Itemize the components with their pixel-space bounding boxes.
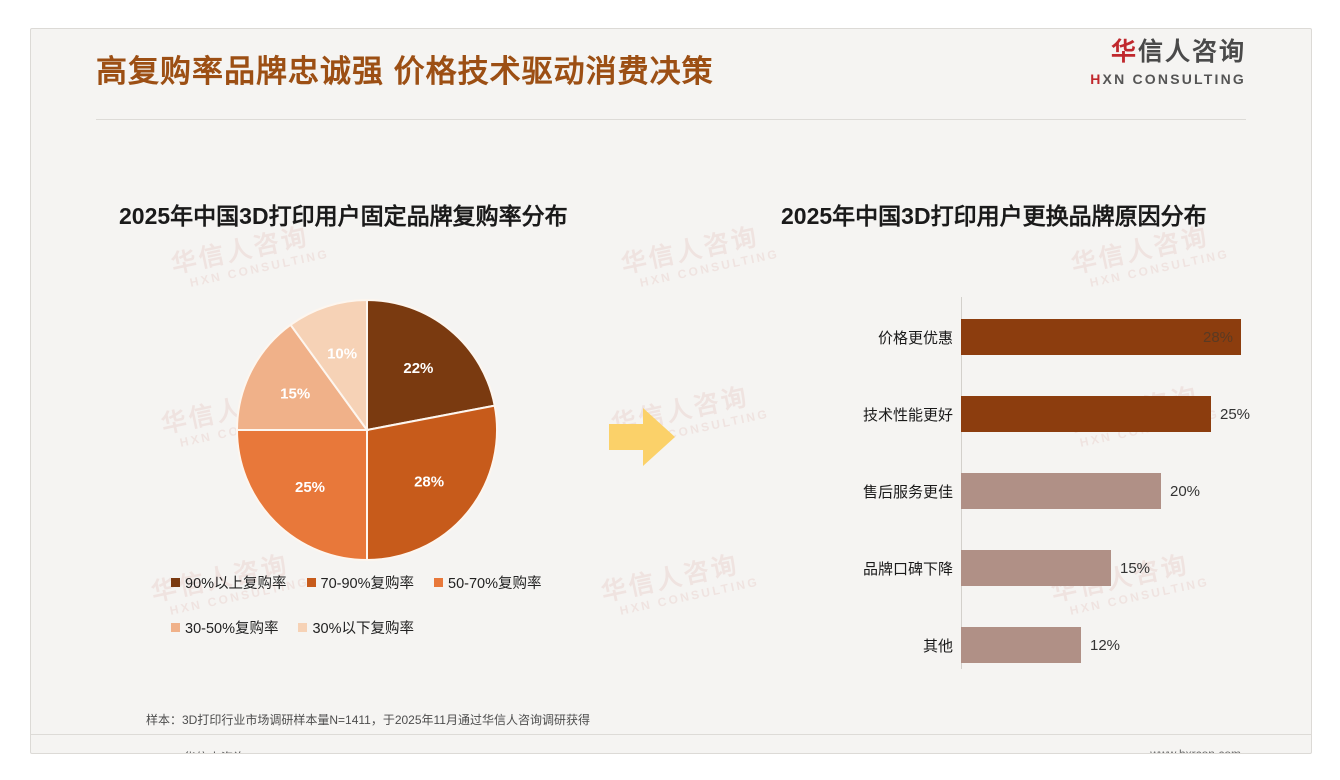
logo-chinese: 华信人咨询 xyxy=(1090,40,1246,65)
bar-fill[interactable] xyxy=(961,396,1211,432)
bar-row: 技术性能更好25% xyxy=(831,396,1281,432)
pie-slice-label: 10% xyxy=(327,345,357,362)
legend-swatch-icon xyxy=(434,578,443,587)
pie-chart: 22%28%25%15%10% xyxy=(236,299,498,561)
watermark-cn: 华信人咨询 xyxy=(618,213,778,281)
right-arrow-icon xyxy=(609,406,677,468)
website-link[interactable]: www.hxrcon.com xyxy=(1150,747,1241,754)
legend-label: 70-90%复购率 xyxy=(321,572,414,593)
slide-header: 高复购率品牌忠诚强 价格技术驱动消费决策 华信人咨询 HXN CONSULTIN… xyxy=(31,29,1311,119)
slide-root: 华信人咨询HXN CONSULTING 华信人咨询HXN CONSULTING … xyxy=(0,0,1340,780)
legend-row: 90%以上复购率 70-90%复购率 50-70%复购率 xyxy=(171,572,601,593)
bar-chart-title: 2025年中国3D打印用户更换品牌原因分布 xyxy=(781,197,1207,231)
bar-row: 其他12% xyxy=(831,627,1281,663)
bar-value-label: 25% xyxy=(1220,406,1250,423)
legend-item[interactable]: 70-90%复购率 xyxy=(307,572,414,593)
legend-label: 90%以上复购率 xyxy=(185,572,287,593)
title-divider xyxy=(96,119,1246,120)
logo-cn-rest: 信人咨询 xyxy=(1138,38,1246,66)
bar-row: 售后服务更佳20% xyxy=(831,473,1281,509)
slide-card: 华信人咨询HXN CONSULTING 华信人咨询HXN CONSULTING … xyxy=(30,28,1312,754)
watermark-en: HXN CONSULTING xyxy=(638,247,780,290)
pie-slice-label: 25% xyxy=(295,479,325,496)
legend-item[interactable]: 30%以下复购率 xyxy=(298,617,414,638)
legend-item[interactable]: 30-50%复购率 xyxy=(171,617,278,638)
legend-item[interactable]: 50-70%复购率 xyxy=(434,572,541,593)
watermark-en: HXN CONSULTING xyxy=(1088,247,1230,290)
brand-logo: 华信人咨询 HXN CONSULTING xyxy=(1090,40,1246,86)
bar-fill[interactable] xyxy=(961,627,1081,663)
watermark-cn: 华信人咨询 xyxy=(598,541,758,609)
pie-slice-label: 28% xyxy=(414,473,444,490)
pie-slice-label: 15% xyxy=(280,385,310,402)
bar-fill[interactable] xyxy=(961,473,1161,509)
legend-label: 30%以下复购率 xyxy=(312,617,414,638)
pie-slice-label: 22% xyxy=(403,360,433,377)
bar-category-label: 价格更优惠 xyxy=(831,327,961,348)
legend-swatch-icon xyxy=(307,578,316,587)
logo-cn-accent: 华 xyxy=(1111,38,1138,66)
logo-en-accent: H xyxy=(1090,71,1102,87)
legend-item[interactable]: 90%以上复购率 xyxy=(171,572,287,593)
bar-track: 15% xyxy=(961,550,1281,586)
logo-english: HXN CONSULTING xyxy=(1090,72,1246,86)
bar-value-label: 28% xyxy=(1203,329,1278,346)
bar-fill[interactable] xyxy=(961,319,1241,355)
bar-row: 品牌口碑下降15% xyxy=(831,550,1281,586)
watermark-en: HXN CONSULTING xyxy=(618,575,760,618)
legend-swatch-icon xyxy=(298,623,307,632)
bar-row: 价格更优惠28% xyxy=(831,319,1281,355)
flow-arrow xyxy=(609,406,677,473)
legend-label: 50-70%复购率 xyxy=(448,572,541,593)
bar-category-label: 品牌口碑下降 xyxy=(831,558,961,579)
bar-value-label: 15% xyxy=(1120,560,1150,577)
logo-en-rest: XN CONSULTING xyxy=(1103,71,1246,87)
bar-category-label: 技术性能更好 xyxy=(831,404,961,425)
page-title: 高复购率品牌忠诚强 价格技术驱动消费决策 xyxy=(96,46,714,91)
pie-legend: 90%以上复购率 70-90%复购率 50-70%复购率 30-50%复购率 3… xyxy=(171,572,601,662)
bar-track: 25% xyxy=(961,396,1281,432)
bar-value-label: 12% xyxy=(1090,637,1120,654)
bar-track: 12% xyxy=(961,627,1281,663)
legend-swatch-icon xyxy=(171,578,180,587)
bar-category-label: 其他 xyxy=(831,635,961,656)
slide-footer: ©2026.1 HXR华信人咨询 www.hxrcon.com xyxy=(31,735,1311,753)
pie-chart-title: 2025年中国3D打印用户固定品牌复购率分布 xyxy=(119,197,568,231)
bar-track: 28% xyxy=(961,319,1281,355)
legend-label: 30-50%复购率 xyxy=(185,617,278,638)
bar-chart: 价格更优惠28%技术性能更好25%售后服务更佳20%品牌口碑下降15%其他12% xyxy=(831,297,1281,669)
legend-row: 30-50%复购率 30%以下复购率 xyxy=(171,617,601,638)
bar-category-label: 售后服务更佳 xyxy=(831,481,961,502)
watermark-en: HXN CONSULTING xyxy=(188,247,330,290)
copyright-text: ©2026.1 HXR华信人咨询 xyxy=(106,747,246,754)
bar-value-label: 20% xyxy=(1170,483,1200,500)
bar-fill[interactable] xyxy=(961,550,1111,586)
pie-svg: 22%28%25%15%10% xyxy=(236,299,498,561)
legend-swatch-icon xyxy=(171,623,180,632)
sample-note: 样本：3D打印行业市场调研样本量N=1411，于2025年11月通过华信人咨询调… xyxy=(146,711,590,728)
bar-track: 20% xyxy=(961,473,1281,509)
